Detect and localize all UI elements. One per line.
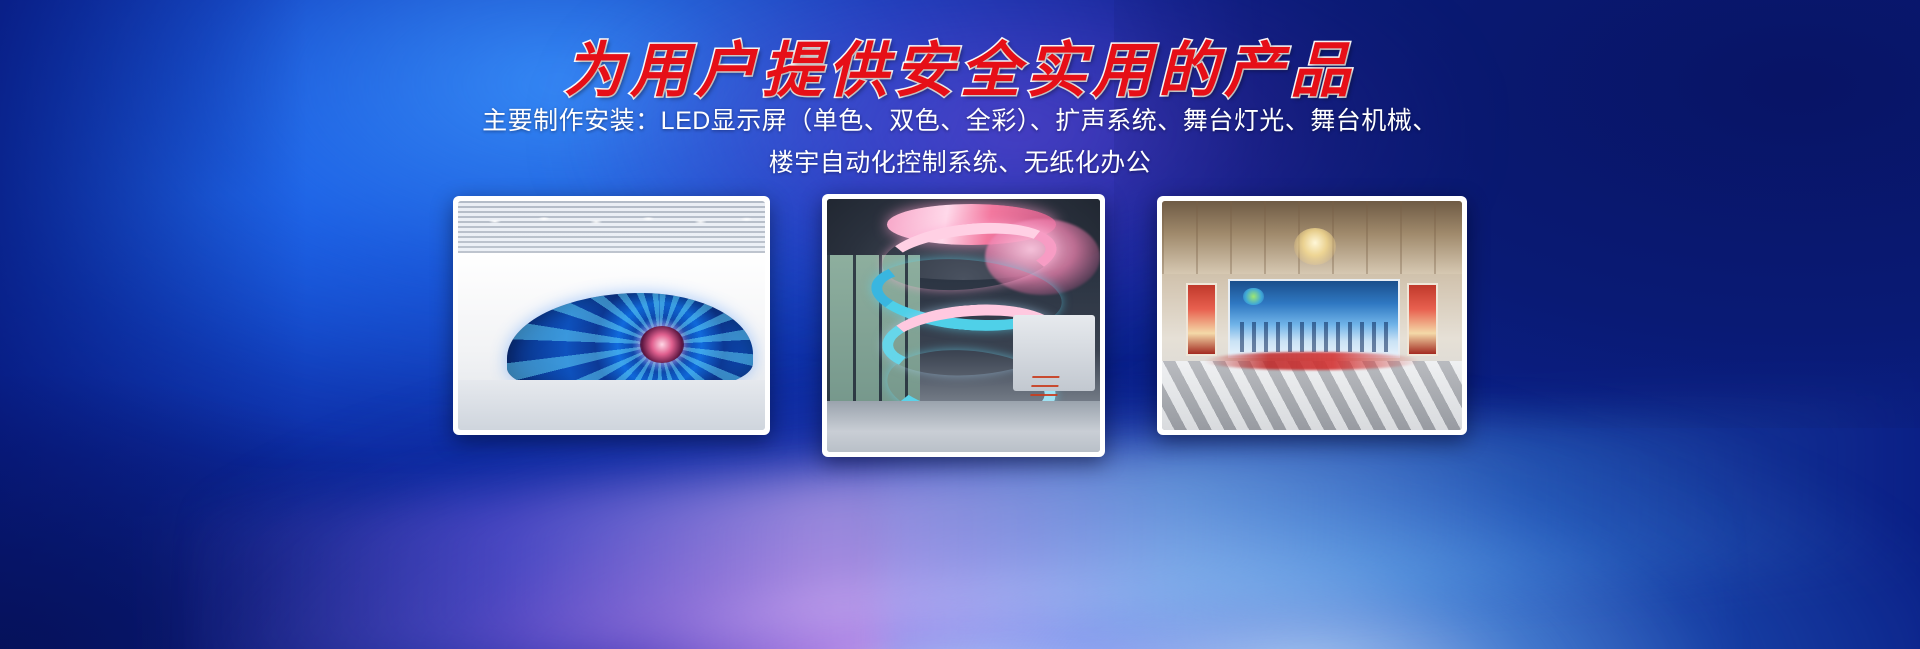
photo-card-spiral-led-ribbon[interactable] — [822, 194, 1105, 457]
headline-container: 为用户提供安全实用的产品 — [0, 22, 1920, 109]
main-led-screen-detail — [1228, 279, 1400, 359]
side-led-panel-right — [1407, 283, 1438, 356]
photo-card-conference-hall-led-wall[interactable] — [1157, 196, 1467, 435]
photo-gallery — [0, 196, 1920, 457]
side-led-panel-left — [1186, 283, 1217, 356]
photo-card-eye-shaped-led-screen[interactable] — [453, 196, 770, 435]
page-title: 为用户提供安全实用的产品 — [564, 22, 1356, 109]
subtitle-block: 主要制作安装：LED显示屏（单色、双色、全彩）、扩声系统、舞台灯光、舞台机械、 … — [0, 100, 1920, 184]
photo-spiral-led-ribbon — [827, 199, 1100, 452]
floor-detail — [827, 401, 1100, 452]
chandelier-detail — [1294, 228, 1336, 265]
floor-detail — [458, 380, 765, 430]
subtitle-line-1: 主要制作安装：LED显示屏（单色、双色、全彩）、扩声系统、舞台灯光、舞台机械、 — [0, 100, 1920, 142]
photo-conference-hall-led-wall — [1162, 201, 1462, 430]
promo-banner: 为用户提供安全实用的产品 主要制作安装：LED显示屏（单色、双色、全彩）、扩声系… — [0, 0, 1920, 649]
photo-eye-shaped-led-screen — [458, 201, 765, 430]
subtitle-line-2: 楼宇自动化控制系统、无纸化办公 — [0, 142, 1920, 184]
ceiling-detail — [458, 201, 765, 253]
floor-detail — [1162, 361, 1462, 430]
